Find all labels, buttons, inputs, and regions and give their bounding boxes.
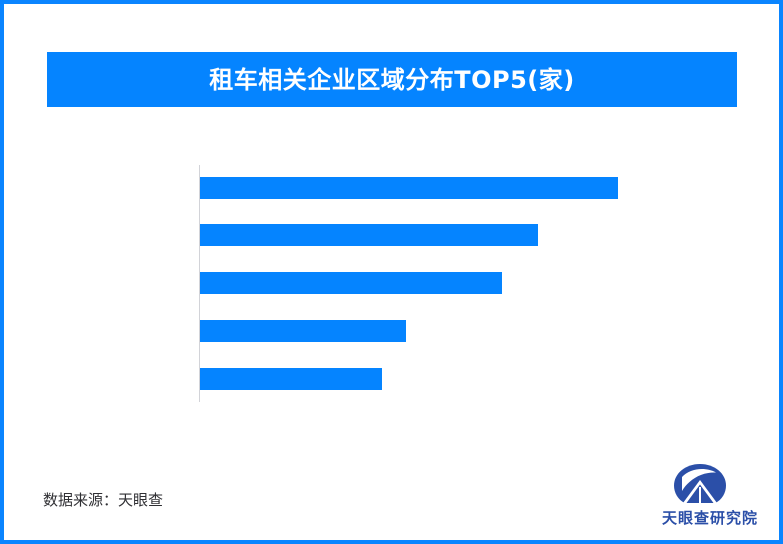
bar-value-江苏省: [200, 272, 502, 294]
brand-logo: 天眼查研究院: [650, 463, 770, 531]
bar-value-山东省: [200, 224, 538, 246]
data-source-label: 数据来源：天眼查: [43, 489, 163, 510]
bar-value-上海市: [200, 368, 382, 390]
chart-canvas: 租车相关企业区域分布TOP5(家) 广东省 山东省 江苏省 河北省 上海市 数据…: [0, 0, 783, 544]
tianyancha-eye-mountain-icon: [672, 463, 728, 505]
brand-logo-text: 天眼查研究院: [650, 507, 770, 528]
bar-value-河北省: [200, 320, 406, 342]
bar-value-广东省: [200, 177, 618, 199]
